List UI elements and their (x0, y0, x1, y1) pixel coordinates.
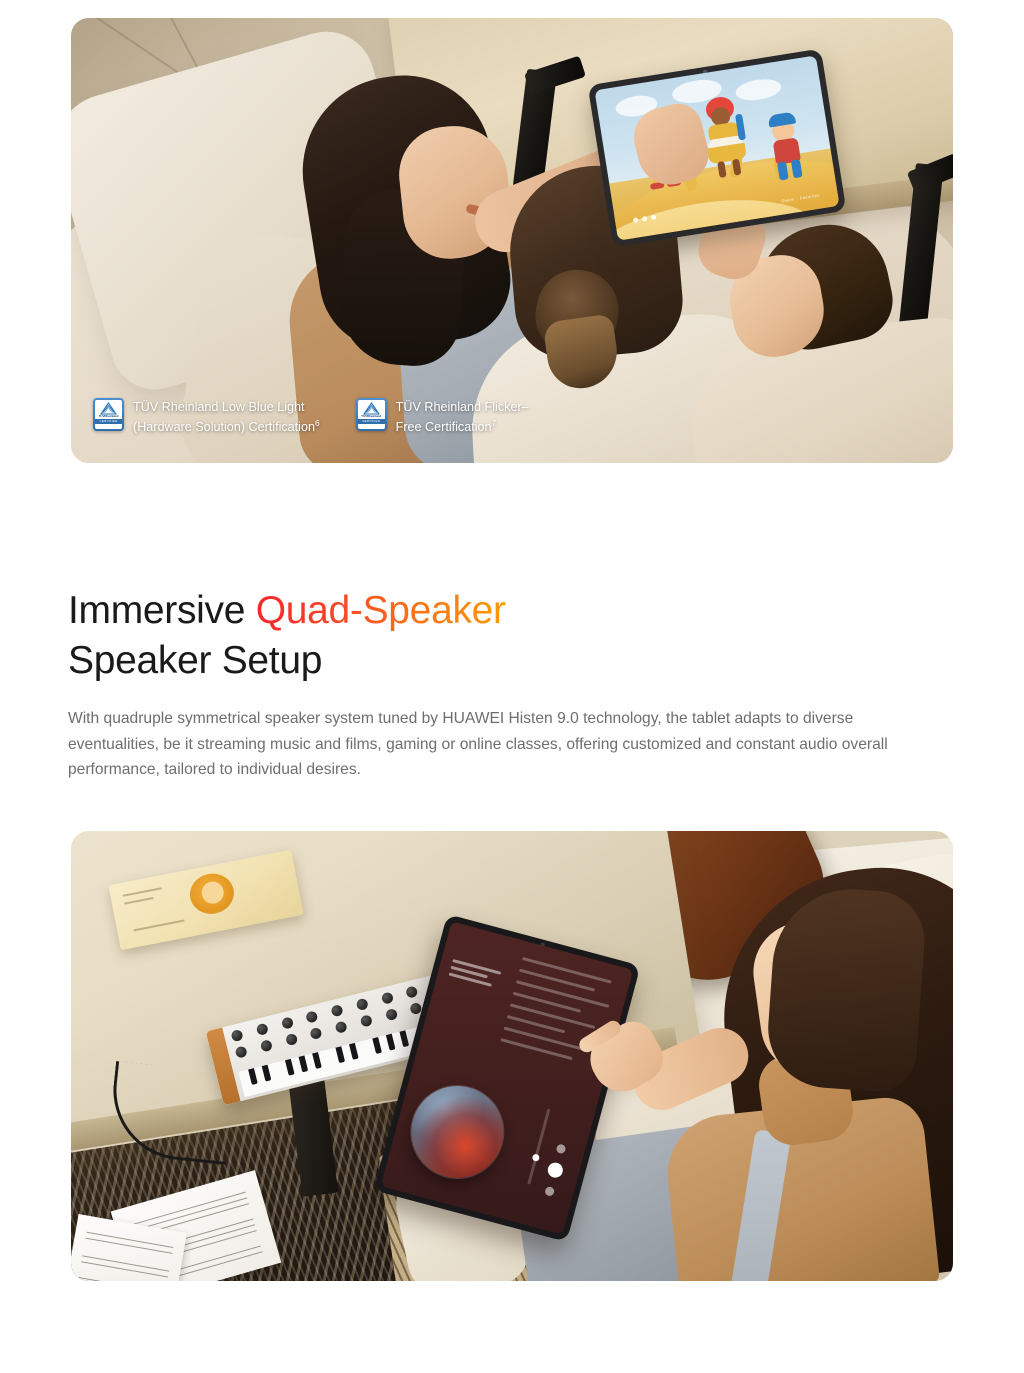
tuv-triangle-icon (100, 402, 117, 415)
certification-low-blue-light: TÜVRheinland CERTIFIED TÜV Rheinland Low… (93, 398, 320, 435)
certification-label: TÜV Rheinland Low Blue Light (Hardware S… (133, 398, 320, 435)
tuv-certified-bar: CERTIFIED (358, 419, 385, 424)
album-art (401, 1076, 514, 1189)
certification-label: TÜV Rheinland Flicker– Free Certificatio… (396, 398, 529, 435)
woman-listening-music-photo (71, 831, 953, 1281)
tuv-triangle-icon (363, 402, 380, 415)
tuv-certified-bar: CERTIFIED (95, 419, 122, 424)
product-page: Share Favorites TÜVRheinland C (0, 0, 1024, 1373)
feature-text-block: Immersive Quad-Speaker Speaker Setup Wit… (68, 586, 928, 783)
playback-controls[interactable] (541, 1143, 569, 1198)
headline-plain: Immersive (68, 589, 256, 632)
headline-line-two: Speaker Setup (68, 639, 322, 682)
page-title: Immersive Quad-Speaker Speaker Setup (68, 586, 928, 686)
tuv-rheinland-badge-icon: TÜVRheinland CERTIFIED (356, 398, 387, 431)
family-watching-tablet-photo: Share Favorites TÜVRheinland C (71, 18, 953, 463)
previous-icon[interactable] (555, 1143, 566, 1154)
certification-row: TÜVRheinland CERTIFIED TÜV Rheinland Low… (93, 398, 529, 435)
footnote-marker: 6 (315, 418, 320, 428)
headline-accent: Quad-Speaker (256, 589, 506, 632)
play-icon[interactable] (546, 1161, 564, 1179)
track-title-placeholder (448, 959, 506, 993)
footnote-marker: 7 (492, 418, 497, 428)
tablet-screen: Share Favorites (594, 55, 839, 240)
certification-flicker-free: TÜVRheinland CERTIFIED TÜV Rheinland Fli… (356, 398, 529, 435)
next-icon[interactable] (544, 1186, 555, 1197)
feature-description: With quadruple symmetrical speaker syste… (68, 706, 898, 783)
tuv-rheinland-badge-icon: TÜVRheinland CERTIFIED (93, 398, 124, 431)
tuv-brand-text: TÜVRheinland (361, 415, 381, 418)
tuv-brand-text: TÜVRheinland (99, 415, 119, 418)
